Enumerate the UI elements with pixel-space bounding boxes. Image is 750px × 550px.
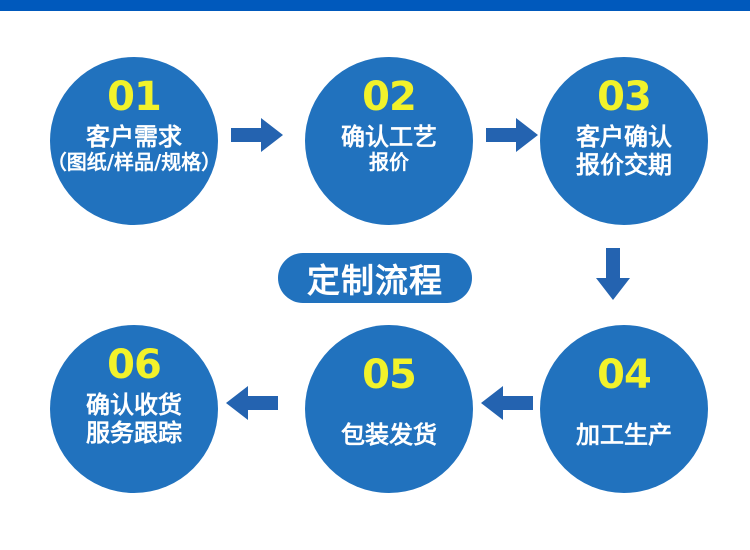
step-number: 04 <box>597 355 651 395</box>
arrow-down-03-to-04 <box>596 248 630 300</box>
step-label: 包装发货 <box>341 421 437 449</box>
top-accent-bar <box>0 0 750 11</box>
step-number: 01 <box>107 77 161 117</box>
step-label-line1: 包装发货 <box>341 421 437 449</box>
arrow-right-02-to-03 <box>486 118 538 152</box>
step-label-line1: 客户确认 <box>576 123 672 151</box>
step-label: 客户确认 报价交期 <box>576 123 672 180</box>
step-label-line2: 报价交期 <box>576 151 672 179</box>
arrow-left-04-to-05 <box>481 386 533 420</box>
process-flow-infographic: 01 客户需求 （图纸/样品/规格） 02 确认工艺 报价 03 客户确认 报价… <box>0 0 750 550</box>
step-label-line1: 加工生产 <box>576 421 672 449</box>
step-label-line1: 客户需求 <box>47 123 222 151</box>
step-label: 加工生产 <box>576 421 672 449</box>
step-number: 03 <box>597 77 651 117</box>
step-06-confirm-receipt: 06 确认收货 服务跟踪 <box>50 325 218 493</box>
step-number: 02 <box>362 77 416 117</box>
step-label: 客户需求 （图纸/样品/规格） <box>47 123 222 175</box>
center-title-text: 定制流程 <box>307 254 443 302</box>
step-number: 06 <box>107 345 161 385</box>
step-05-packing-shipping: 05 包装发货 <box>305 325 473 493</box>
step-label-line2: 服务跟踪 <box>86 419 182 447</box>
step-label-line1: 确认工艺 <box>341 123 437 151</box>
arrow-left-05-to-06 <box>226 386 278 420</box>
center-title-badge: 定制流程 <box>278 253 472 303</box>
step-number: 05 <box>362 355 416 395</box>
step-label-line1: 确认收货 <box>86 391 182 419</box>
step-label-line2: （图纸/样品/规格） <box>47 151 222 175</box>
arrow-right-01-to-02 <box>231 118 283 152</box>
step-01-customer-requirement: 01 客户需求 （图纸/样品/规格） <box>50 57 218 225</box>
step-label: 确认收货 服务跟踪 <box>86 391 182 448</box>
step-03-customer-confirm: 03 客户确认 报价交期 <box>540 57 708 225</box>
step-label: 确认工艺 报价 <box>341 123 437 175</box>
step-02-confirm-process: 02 确认工艺 报价 <box>305 57 473 225</box>
step-04-production: 04 加工生产 <box>540 325 708 493</box>
step-label-line2: 报价 <box>341 151 437 175</box>
